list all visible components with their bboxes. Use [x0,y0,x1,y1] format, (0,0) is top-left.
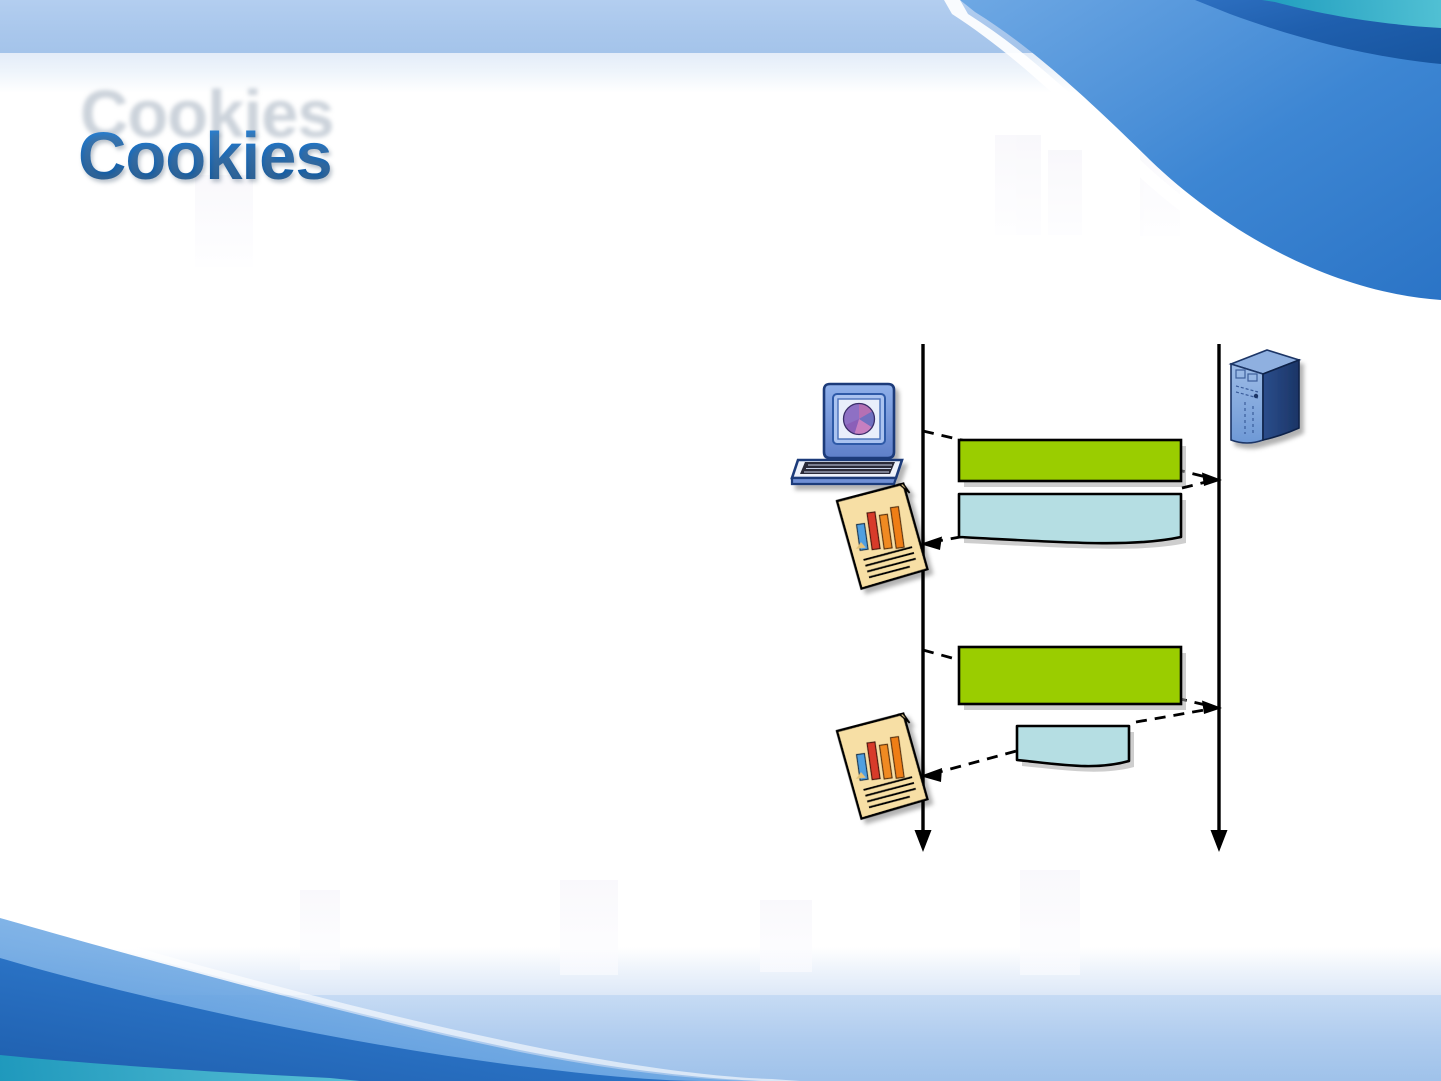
slide-canvas: Cookies Cookies [0,0,1441,1081]
top-swoosh-light [1000,0,1441,127]
message-request-2 [923,647,1222,714]
response-2-banner [1017,726,1129,766]
document-chart-icon-1 [836,482,929,590]
http-cookie-sequence-diagram [770,330,1330,870]
top-swoosh-edge [944,0,1441,318]
page-title: Cookies [78,123,332,190]
laptop-icon [792,384,902,484]
pie-chart-glyph [844,404,875,435]
bottom-swoosh-dark [0,958,700,1081]
lifelines [915,344,1228,852]
top-swoosh-teal [1262,0,1441,28]
message-request-1 [923,431,1222,487]
request-1-banner [959,440,1181,481]
top-swoosh-mid [960,0,1441,300]
diagram-svg [770,330,1330,870]
message-response-2 [920,708,1216,782]
server-lifeline-arrowhead [1211,830,1228,852]
bottom-swoosh-mid [0,918,760,1081]
bottom-swoosh-edge [0,908,800,1081]
top-blue-band [0,0,1441,53]
server-tower-icon [1231,350,1299,443]
message-response-1 [920,480,1214,550]
slide-body-text [80,220,720,780]
bottom-blue-band [0,995,1441,1081]
response-1-banner [959,494,1181,543]
client-lifeline-arrowhead [915,830,932,852]
bottom-fade-band [0,947,1441,995]
top-swoosh-dark [1195,0,1441,64]
document-chart-icon-2 [836,712,929,820]
bottom-swoosh-teal [0,1055,360,1081]
request-2-banner [959,647,1181,704]
response-2-dash-left [932,750,1020,774]
